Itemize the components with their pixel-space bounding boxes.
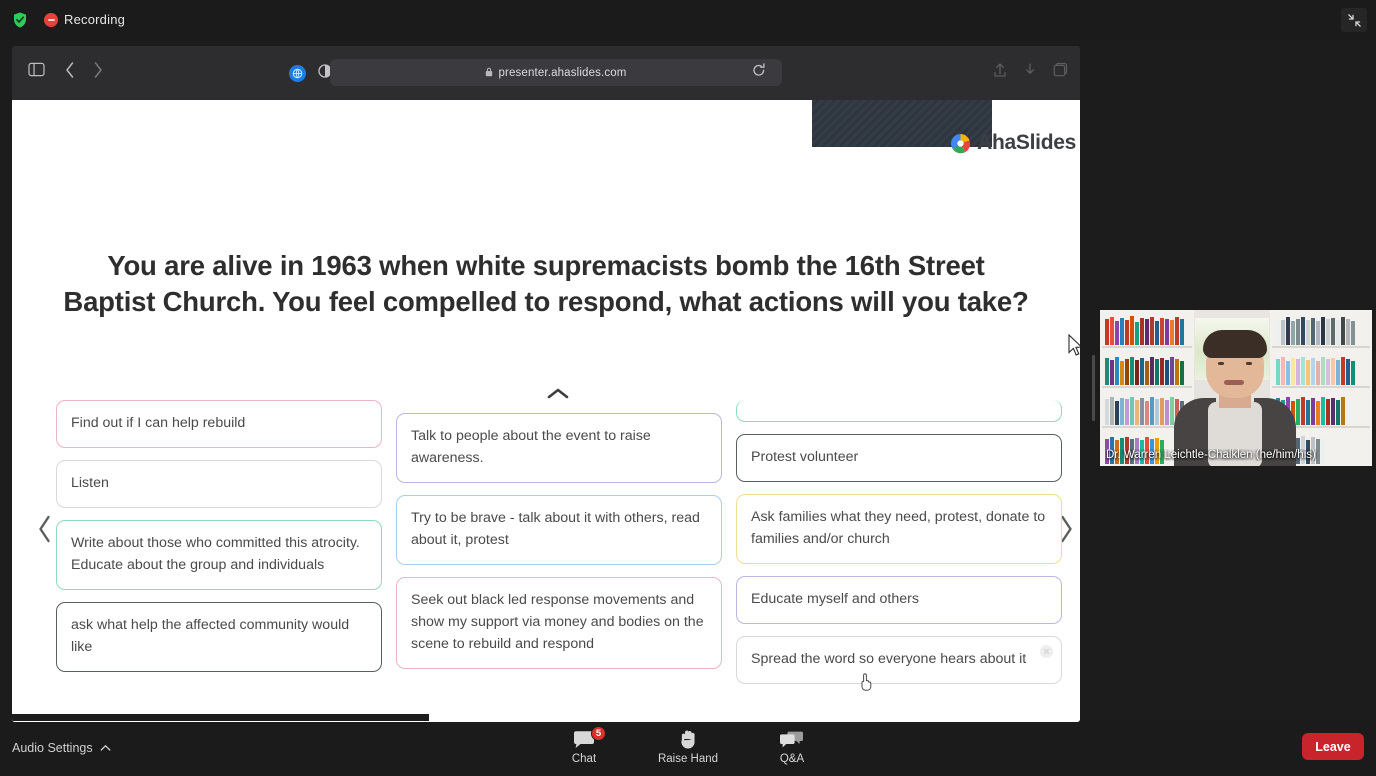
response-card[interactable]: ask what help the affected community wou… <box>56 602 382 672</box>
ahaslides-brand: AhaSlides <box>950 131 1076 155</box>
browser-toolbar: presenter.ahaslides.com <box>12 46 1080 100</box>
browser-back-icon[interactable] <box>64 61 76 84</box>
books-row <box>1105 316 1184 345</box>
books-row <box>1276 316 1355 345</box>
response-card[interactable]: Find out if I can help rebuild <box>56 400 382 448</box>
scrollbar-thumb[interactable] <box>12 714 429 721</box>
ahaslides-brand-text: AhaSlides <box>977 131 1076 155</box>
response-card[interactable]: Try to be brave - talk about it with oth… <box>396 495 722 565</box>
share-icon[interactable] <box>993 62 1007 83</box>
recording-indicator-icon[interactable] <box>44 13 58 27</box>
reload-icon[interactable] <box>752 63 766 83</box>
person-mouth <box>1224 380 1244 385</box>
responses-column-3: Protest volunteer Ask families what they… <box>736 400 1062 712</box>
response-card[interactable]: Ask families what they need, protest, do… <box>736 494 1062 564</box>
responses-column-2: Talk to people about the event to raise … <box>396 400 722 712</box>
responses-columns: Find out if I can help rebuild Listen Wr… <box>56 400 1068 712</box>
tab-overview-icon[interactable] <box>1053 62 1068 83</box>
zoom-meeting-window: Recording <box>0 0 1376 776</box>
sidebar-toggle-icon[interactable] <box>28 62 45 82</box>
chevron-up-icon[interactable] <box>100 741 111 755</box>
audio-settings-button[interactable]: Audio Settings <box>12 741 111 755</box>
response-card[interactable]: Protest volunteer <box>736 434 1062 482</box>
raise-hand-button[interactable]: Raise Hand <box>655 728 721 765</box>
person-hair <box>1203 330 1267 358</box>
response-card[interactable]: Talk to people about the event to raise … <box>396 413 722 483</box>
responses-column-1: Find out if I can help rebuild Listen Wr… <box>56 400 382 712</box>
raised-hand-icon <box>678 728 698 750</box>
recording-label: Recording <box>64 12 125 27</box>
shelf-divider <box>1102 386 1192 388</box>
slide-question-title: You are alive in 1963 when white suprema… <box>62 248 1030 320</box>
response-card-partial[interactable] <box>736 400 1062 422</box>
ahaslides-presenter-page: AhaSlides You are alive in 1963 when whi… <box>12 100 1080 722</box>
pointing-hand-cursor-icon <box>858 672 875 697</box>
mouse-pointer-icon <box>1067 334 1080 363</box>
shelf-divider <box>1272 346 1370 348</box>
chat-button[interactable]: 5 Chat <box>551 728 617 765</box>
qa-button[interactable]: Q&A <box>759 728 825 765</box>
books-row <box>1105 356 1184 385</box>
qa-bubbles-icon <box>779 728 805 750</box>
shelf-divider <box>1102 346 1192 348</box>
extension-blue-icon[interactable] <box>289 65 306 82</box>
response-card[interactable]: Seek out black led response movements an… <box>396 577 722 669</box>
chat-label: Chat <box>572 753 596 765</box>
gallery-scrollbar[interactable] <box>1092 355 1095 421</box>
response-card[interactable]: Educate myself and others <box>736 576 1062 624</box>
books-row <box>1276 356 1355 385</box>
page-horizontal-scrollbar[interactable] <box>12 713 1080 722</box>
leave-button[interactable]: Leave <box>1302 733 1364 760</box>
person-eye-right <box>1246 362 1252 365</box>
shared-screen-browser: presenter.ahaslides.com <box>12 46 1080 722</box>
response-card[interactable]: Spread the word so everyone hears about … <box>736 636 1062 684</box>
video-background <box>1100 310 1372 466</box>
url-text: presenter.ahaslides.com <box>498 67 626 79</box>
response-card[interactable]: Listen <box>56 460 382 508</box>
audio-settings-label: Audio Settings <box>12 741 93 755</box>
response-card[interactable]: Write about those who committed this atr… <box>56 520 382 590</box>
address-bar[interactable]: presenter.ahaslides.com <box>330 59 782 86</box>
person-eye-left <box>1218 362 1224 365</box>
download-icon[interactable] <box>1023 62 1037 83</box>
exit-fullscreen-icon[interactable] <box>1341 8 1367 32</box>
participant-name-label: Dr. Warren Leichtle-Chalklen (he/him/his… <box>1106 449 1366 461</box>
ahaslides-logo-icon <box>950 133 971 154</box>
raise-hand-label: Raise Hand <box>658 753 718 765</box>
meeting-top-bar: Recording <box>0 0 1376 40</box>
chat-unread-badge: 5 <box>591 726 606 741</box>
qa-label: Q&A <box>780 753 804 765</box>
participant-video-tile[interactable]: Dr. Warren Leichtle-Chalklen (he/him/his… <box>1100 310 1372 466</box>
books-row <box>1105 396 1184 425</box>
browser-forward-icon[interactable] <box>92 61 104 84</box>
shelf-divider <box>1272 386 1370 388</box>
lock-icon <box>485 64 493 82</box>
toolbar-buttons: 5 Chat Raise Hand Q&A <box>551 728 825 765</box>
close-circle-icon[interactable] <box>1040 645 1053 658</box>
shield-check-icon[interactable] <box>10 10 30 30</box>
meeting-bottom-toolbar: Audio Settings 5 Chat <box>0 722 1376 776</box>
response-card-text: Spread the word so everyone hears about … <box>751 651 1026 667</box>
